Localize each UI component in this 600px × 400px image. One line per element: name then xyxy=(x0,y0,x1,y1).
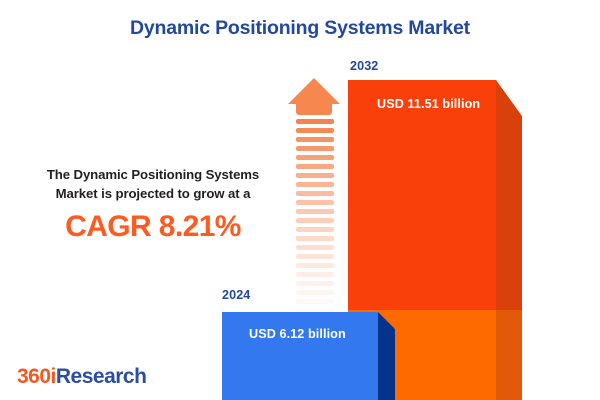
bar-2024-value-label: USD 6.12 billion xyxy=(249,327,346,341)
bar-2024-year-label: 2024 xyxy=(222,288,250,302)
arrow-rung xyxy=(296,182,334,187)
arrow-rung xyxy=(296,236,334,241)
cagr-value: CAGR 8.21% xyxy=(18,210,288,244)
arrow-rung xyxy=(296,254,334,259)
arrow-rung xyxy=(296,146,334,151)
arrow-rung xyxy=(296,290,334,295)
arrow-rung xyxy=(296,209,334,214)
statement-line-1: The Dynamic Positioning Systems xyxy=(18,165,288,184)
growth-arrow-icon xyxy=(288,78,340,296)
logo-research-text: Research xyxy=(56,365,147,388)
brand-logo: 360iResearch xyxy=(17,366,146,388)
cagr-statement: The Dynamic Positioning Systems Market i… xyxy=(18,165,288,244)
arrow-rung xyxy=(296,263,334,268)
market-infographic: Dynamic Positioning Systems Market The D… xyxy=(0,0,600,400)
arrow-rung xyxy=(296,128,334,133)
arrow-rung xyxy=(296,200,334,205)
bar-2032-value-label: USD 11.51 billion xyxy=(377,97,480,111)
bar-2024-front xyxy=(222,312,378,400)
arrow-rung xyxy=(296,137,334,142)
statement-line-2: Market is projected to grow at a xyxy=(18,184,288,203)
bar-2032-side-lower xyxy=(496,310,522,400)
logo-360i-text: 360i xyxy=(17,365,56,388)
arrow-head-icon xyxy=(288,78,340,104)
arrow-rung-stack xyxy=(296,119,334,335)
bar-2032-year-label: 2032 xyxy=(350,59,378,73)
arrow-rung xyxy=(296,245,334,250)
bar-2024 xyxy=(222,312,378,400)
arrow-rung xyxy=(296,299,334,304)
arrow-rung xyxy=(296,227,334,232)
arrow-rung xyxy=(296,164,334,169)
arrow-rung xyxy=(296,119,334,124)
arrow-rung xyxy=(296,155,334,160)
arrow-rung xyxy=(296,272,334,277)
arrow-rung xyxy=(296,191,334,196)
page-title: Dynamic Positioning Systems Market xyxy=(0,17,600,40)
arrow-neck-icon xyxy=(296,103,332,115)
arrow-rung xyxy=(296,218,334,223)
arrow-rung xyxy=(296,281,334,286)
arrow-rung xyxy=(296,173,334,178)
